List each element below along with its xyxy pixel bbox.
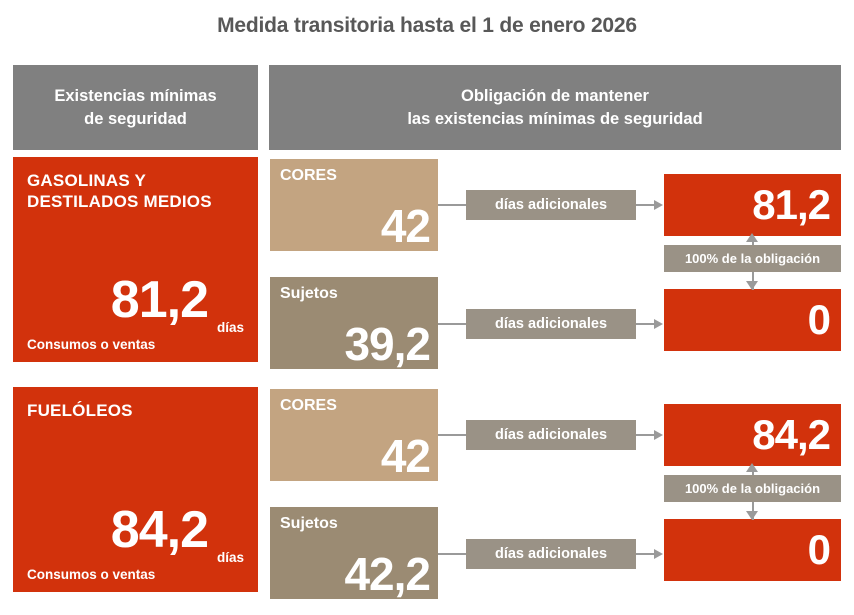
summary-product-name-line1: FUELÓLEOS [27,400,248,421]
product-group-fueloleos: FUELÓLEOS 84,2 días Consumos o ventas CO… [0,387,854,599]
summary-product-name-line1: GASOLINAS Y [27,170,248,191]
obligation-block-label: CORES [280,167,337,185]
column-header-left-line2: de seguridad [54,108,216,130]
connector-label-dias-adicionales: días adicionales [466,190,636,220]
result-block-cores: 81,2 [664,174,841,236]
column-header-existencias-minimas: Existencias mínimas de seguridad [13,65,258,150]
result-value: 0 [808,299,830,341]
obligation-block-cores: CORES 42 [270,389,438,481]
arrow-down-icon [746,511,758,520]
summary-caption: Consumos o ventas [27,337,155,352]
result-block-sujetos: 0 [664,519,841,581]
page-title: Medida transitoria hasta el 1 de enero 2… [0,14,854,38]
obligation-block-value: 39,2 [344,321,430,367]
obligation-block-value: 42 [381,203,430,249]
result-value: 84,2 [752,414,830,456]
obligation-percentage-label: 100% de la obligación [664,245,841,272]
connector-label-dias-adicionales: días adicionales [466,420,636,450]
arrow-up-icon [746,233,758,242]
summary-caption: Consumos o ventas [27,567,155,582]
connector-line [438,434,466,436]
summary-product-name-line2: DESTILADOS MEDIOS [27,191,248,212]
connector-label-dias-adicionales: días adicionales [466,309,636,339]
arrow-up-icon [746,463,758,472]
connector-line [438,553,466,555]
summary-product-name: FUELÓLEOS [27,400,248,421]
obligation-block-value: 42 [381,433,430,479]
result-block-cores: 84,2 [664,404,841,466]
summary-card-gasolinas: GASOLINAS Y DESTILADOS MEDIOS 81,2 días … [13,157,258,362]
column-header-left-line1: Existencias mínimas [54,85,216,107]
summary-unit: días [217,550,244,565]
arrow-right-icon [654,319,663,329]
arrow-right-icon [654,200,663,210]
result-block-sujetos: 0 [664,289,841,351]
obligation-block-label: CORES [280,397,337,415]
connector-line [438,204,466,206]
obligation-block-sujetos: Sujetos 42,2 [270,507,438,599]
arrow-right-icon [654,549,663,559]
summary-unit: días [217,320,244,335]
obligation-block-value: 42,2 [344,551,430,597]
product-group-gasolinas: GASOLINAS Y DESTILADOS MEDIOS 81,2 días … [0,157,854,369]
column-header-right-line1: Obligación de mantener [407,85,702,107]
connector-label-dias-adicionales: días adicionales [466,539,636,569]
connector-line [438,323,466,325]
summary-value: 81,2 [111,277,208,324]
result-value: 81,2 [752,184,830,226]
obligation-block-label: Sujetos [280,515,338,533]
obligation-block-sujetos: Sujetos 39,2 [270,277,438,369]
arrow-down-icon [746,281,758,290]
obligation-block-label: Sujetos [280,285,338,303]
summary-value: 84,2 [111,507,208,554]
summary-product-name: GASOLINAS Y DESTILADOS MEDIOS [27,170,248,213]
column-header-right-line2: las existencias mínimas de seguridad [407,108,702,130]
obligation-block-cores: CORES 42 [270,159,438,251]
summary-card-fueloleos: FUELÓLEOS 84,2 días Consumos o ventas [13,387,258,592]
result-value: 0 [808,529,830,571]
arrow-right-icon [654,430,663,440]
column-header-obligacion-mantener: Obligación de mantener las existencias m… [269,65,841,150]
obligation-percentage-label: 100% de la obligación [664,475,841,502]
